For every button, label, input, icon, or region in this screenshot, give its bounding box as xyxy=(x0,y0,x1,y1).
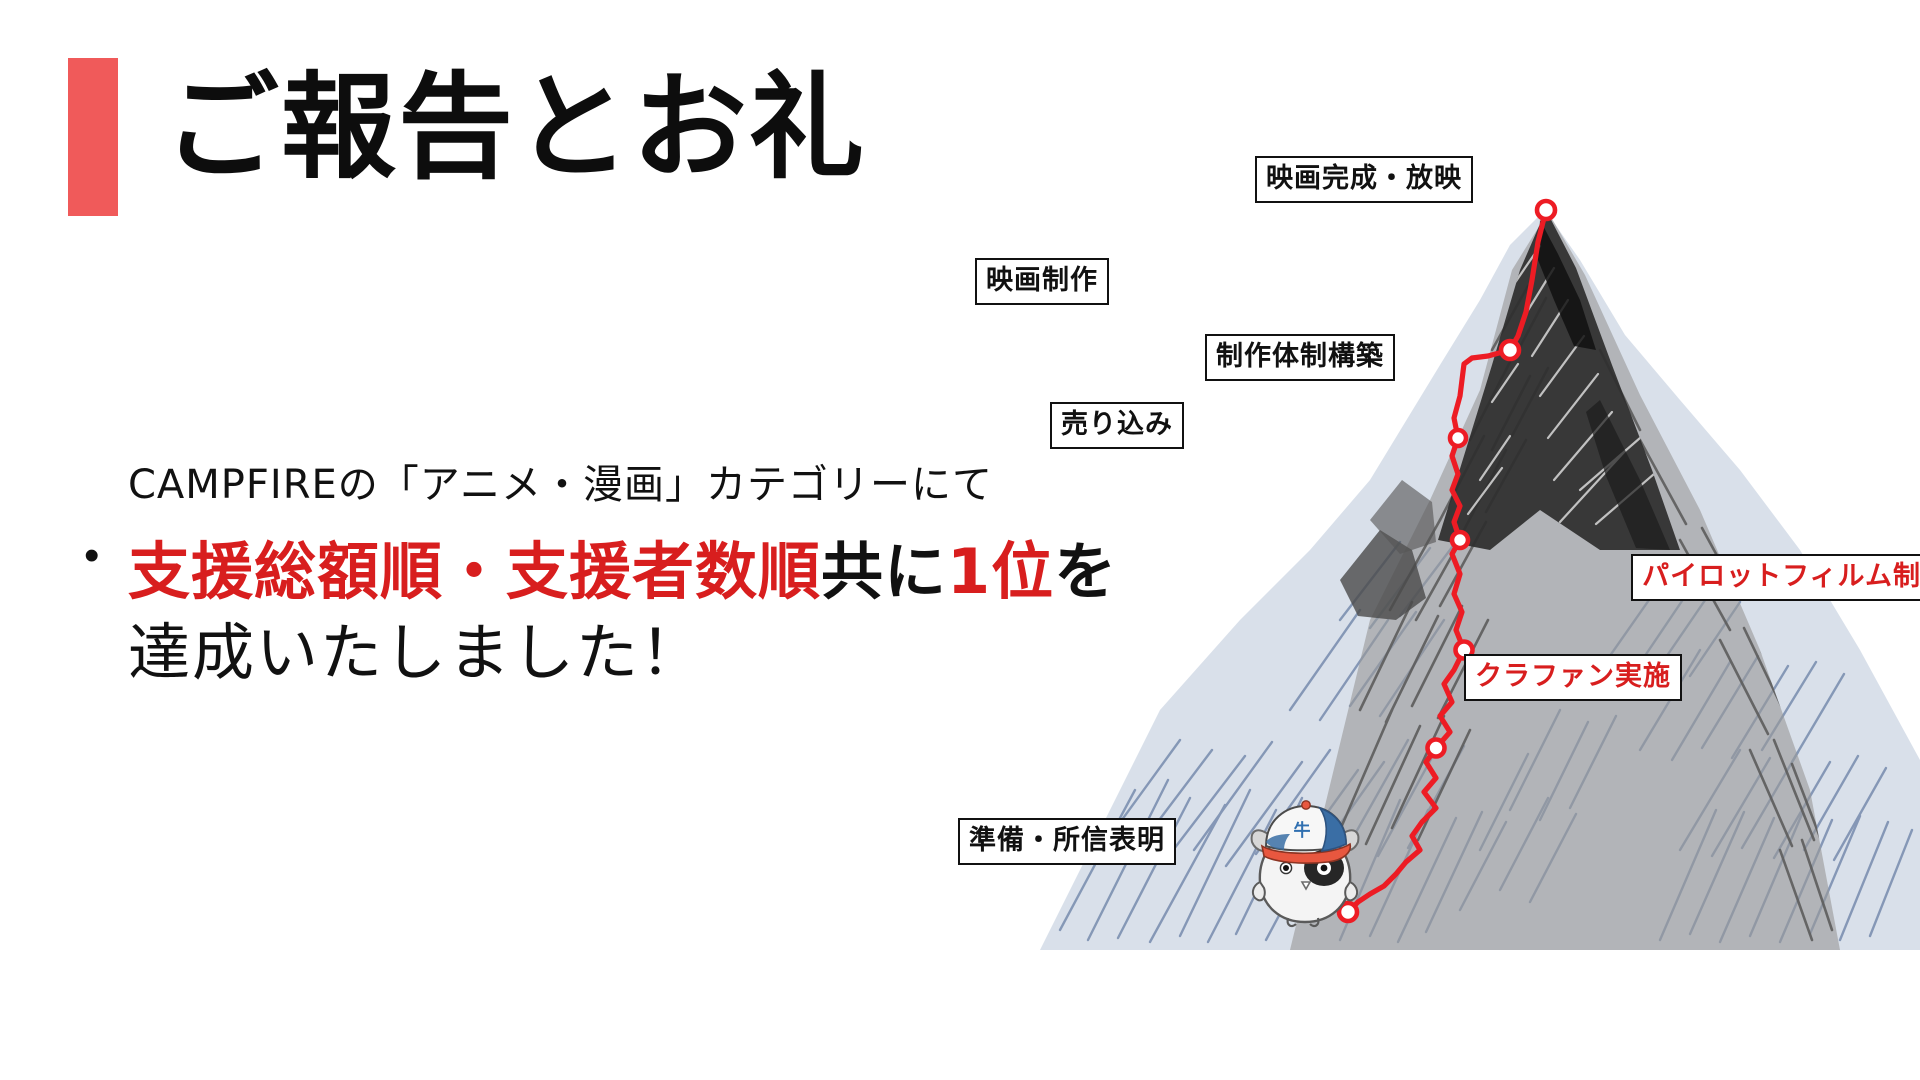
label-pitching: 売り込み xyxy=(1050,402,1184,449)
highlight-rank-one: 1位 xyxy=(947,535,1054,608)
waypoint-production-system xyxy=(1450,430,1466,446)
page-title: ご報告とお礼 xyxy=(164,58,866,198)
title-accent-bar xyxy=(68,58,118,216)
waypoint-crowdfunding xyxy=(1428,740,1445,757)
label-crowdfunding: クラファン実施 xyxy=(1464,654,1682,701)
slide-root: ご報告とお礼 CAMPFIREの「アニメ・漫画」カテゴリーにて • 支援総額順・… xyxy=(0,0,1920,1080)
connector-text: 共に xyxy=(821,535,947,608)
lead-line: CAMPFIREの「アニメ・漫画」カテゴリーにて xyxy=(128,452,1064,510)
highlight-ranking: 支援総額順・支援者数順 xyxy=(128,535,821,608)
waypoint-summit xyxy=(1537,201,1555,219)
waypoint-movie-production xyxy=(1501,341,1519,359)
achievement-line-2: 達成いたしました！ xyxy=(128,613,1117,694)
bullet-marker: • xyxy=(84,532,128,580)
achievement-line-1: 支援総額順・支援者数順共に1位を xyxy=(128,532,1117,613)
mascot-cap-button xyxy=(1302,801,1310,809)
bullet-body: 支援総額順・支援者数順共に1位を 達成いたしました！ xyxy=(128,532,1117,693)
label-preparation: 準備・所信表明 xyxy=(958,818,1176,865)
waypoint-pitching xyxy=(1452,532,1468,548)
page-title-row: ご報告とお礼 xyxy=(68,58,866,216)
label-production-system: 制作体制構築 xyxy=(1205,334,1395,381)
ushi-mascot: 牛 xyxy=(1240,790,1370,930)
label-movie-complete: 映画完成・放映 xyxy=(1255,156,1473,203)
bullet-row: • 支援総額順・支援者数順共に1位を 達成いたしました！ xyxy=(84,532,1064,693)
label-pilot-film: パイロットフィルム制作 xyxy=(1631,554,1920,601)
mountain-illustration: 映画完成・放映 映画制作 制作体制構築 売り込み パイロットフィルム制作 クラフ… xyxy=(1040,150,1920,950)
body-block: CAMPFIREの「アニメ・漫画」カテゴリーにて • 支援総額順・支援者数順共に… xyxy=(84,452,1064,693)
label-movie-production: 映画制作 xyxy=(975,258,1109,305)
mascot-cap-character: 牛 xyxy=(1294,820,1311,841)
